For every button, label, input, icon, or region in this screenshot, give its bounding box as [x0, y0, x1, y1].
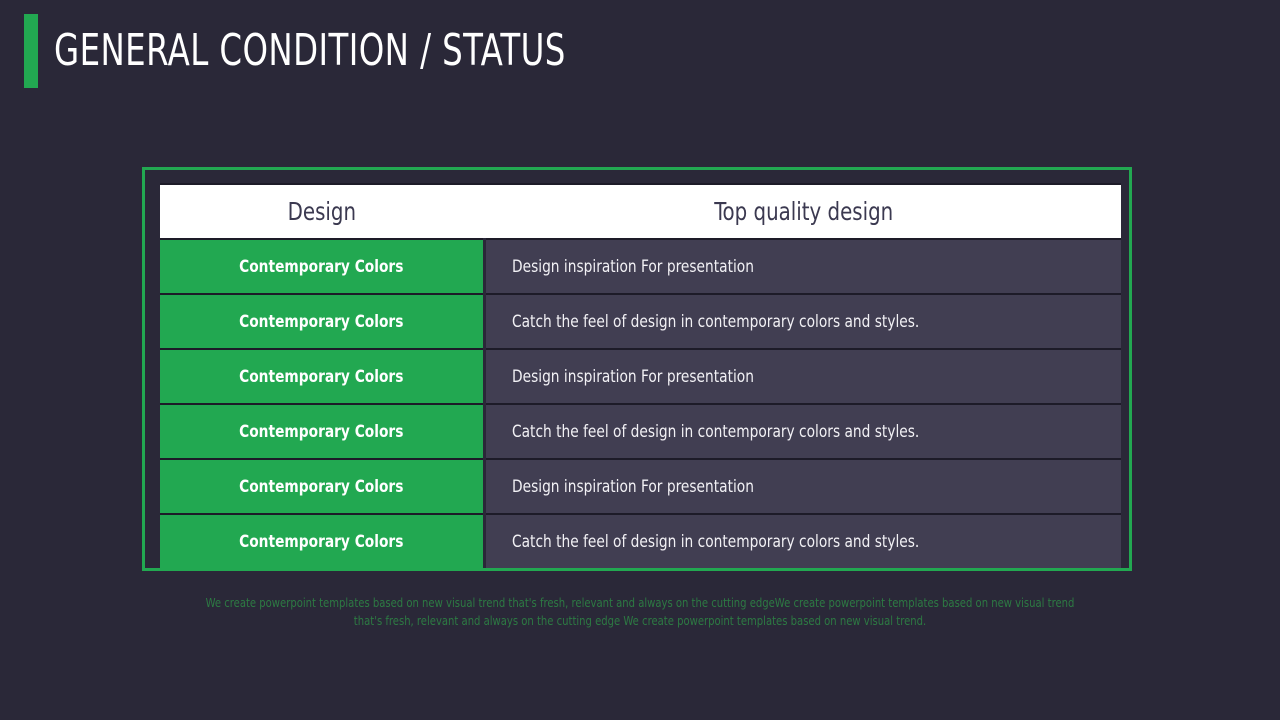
title-accent-bar: [24, 14, 38, 88]
table-header: Design Top quality design: [160, 183, 1121, 238]
table-row: Contemporary Colors Catch the feel of de…: [160, 293, 1121, 348]
footer-caption-text: We create powerpoint templates based on …: [203, 594, 1077, 630]
table-row: Contemporary Colors Design inspiration F…: [160, 348, 1121, 403]
table-frame: Design Top quality design Contemporary C…: [142, 167, 1132, 571]
row-description: Catch the feel of design in contemporary…: [512, 422, 919, 442]
row-label-cell: Contemporary Colors: [160, 403, 483, 458]
row-label: Contemporary Colors: [239, 422, 403, 442]
row-label: Contemporary Colors: [239, 477, 403, 497]
column-header-top-quality-design-label: Top quality design: [714, 197, 893, 226]
row-description: Design inspiration For presentation: [512, 477, 754, 497]
column-header-design: Design: [160, 183, 483, 238]
slide-title-block: GENERAL CONDITION / STATUS: [24, 14, 678, 88]
row-label-cell: Contemporary Colors: [160, 513, 483, 568]
row-label: Contemporary Colors: [239, 312, 403, 332]
row-description: Design inspiration For presentation: [512, 257, 754, 277]
row-description: Catch the feel of design in contemporary…: [512, 532, 919, 552]
row-label-cell: Contemporary Colors: [160, 348, 483, 403]
table-header-row: Design Top quality design: [160, 183, 1121, 238]
column-header-design-label: Design: [287, 197, 355, 226]
row-description-cell: Catch the feel of design in contemporary…: [486, 293, 1121, 348]
table-row: Contemporary Colors Catch the feel of de…: [160, 513, 1121, 568]
row-label: Contemporary Colors: [239, 532, 403, 552]
row-label-cell: Contemporary Colors: [160, 238, 483, 293]
row-label-cell: Contemporary Colors: [160, 458, 483, 513]
row-description-cell: Design inspiration For presentation: [486, 238, 1121, 293]
row-description-cell: Catch the feel of design in contemporary…: [486, 403, 1121, 458]
row-description-cell: Design inspiration For presentation: [486, 458, 1121, 513]
page-title: GENERAL CONDITION / STATUS: [54, 29, 566, 73]
table-body: Contemporary Colors Design inspiration F…: [160, 238, 1121, 568]
row-label: Contemporary Colors: [239, 367, 403, 387]
row-label: Contemporary Colors: [239, 257, 403, 277]
table-row: Contemporary Colors Design inspiration F…: [160, 458, 1121, 513]
row-description: Design inspiration For presentation: [512, 367, 754, 387]
slide: GENERAL CONDITION / STATUS Design Top qu…: [0, 0, 1280, 720]
row-description: Catch the feel of design in contemporary…: [512, 312, 919, 332]
table-row: Contemporary Colors Design inspiration F…: [160, 238, 1121, 293]
row-description-cell: Catch the feel of design in contemporary…: [486, 513, 1121, 568]
row-description-cell: Design inspiration For presentation: [486, 348, 1121, 403]
footer-caption: We create powerpoint templates based on …: [170, 594, 1110, 630]
row-label-cell: Contemporary Colors: [160, 293, 483, 348]
column-header-top-quality-design: Top quality design: [486, 183, 1121, 238]
status-table: Design Top quality design Contemporary C…: [160, 183, 1121, 568]
table-row: Contemporary Colors Catch the feel of de…: [160, 403, 1121, 458]
